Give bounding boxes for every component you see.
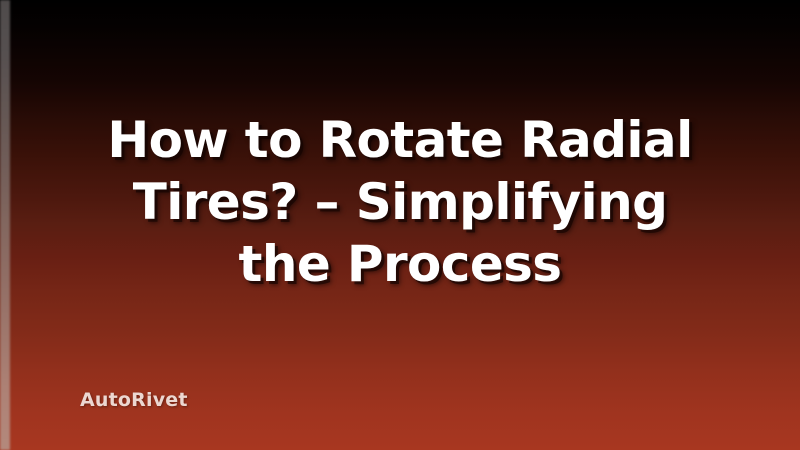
title-block: How to Rotate Radial Tires? – Simplifyin… <box>0 0 800 450</box>
brand-label: AutoRivet <box>80 389 188 411</box>
page-title: How to Rotate Radial Tires? – Simplifyin… <box>76 109 724 295</box>
hero-card: How to Rotate Radial Tires? – Simplifyin… <box>0 0 800 450</box>
